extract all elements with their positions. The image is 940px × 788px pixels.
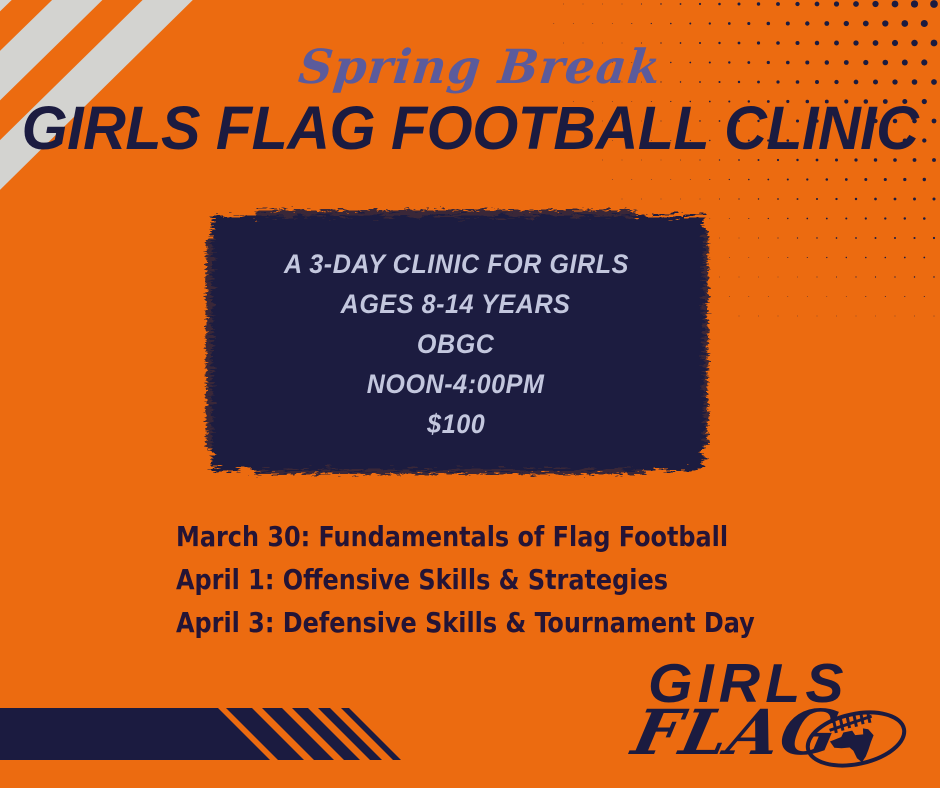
detail-line: A 3-DAY CLINIC FOR GIRLS [284,249,629,280]
detail-line: $100 [427,409,485,440]
detail-line: NOON-4:00PM [367,369,545,400]
poster-canvas: Spring Break GIRLS FLAG FOOTBALL CLINIC [0,0,940,788]
details-text-stack: A 3-DAY CLINIC FOR GIRLS AGES 8-14 YEARS… [196,196,716,488]
girls-flag-logo: GIRLS FLAG [630,654,902,776]
football-maryland-icon [804,706,908,772]
schedule-item: April 3: Defensive Skills & Tournament D… [176,601,841,644]
detail-line: OBGC [417,329,495,360]
page-title: GIRLS FLAG FOOTBALL CLINIC [14,97,926,159]
bottom-bar-decoration [0,670,420,788]
schedule-list: March 30: Fundamentals of Flag Football … [176,515,876,644]
headline-block: Spring Break GIRLS FLAG FOOTBALL CLINIC [0,44,940,159]
schedule-item: April 1: Offensive Skills & Strategies [176,558,841,601]
schedule-item: March 30: Fundamentals of Flag Football [176,515,841,558]
script-title: Spring Break [18,44,940,91]
detail-line: AGES 8-14 YEARS [341,289,571,320]
details-brush-box: A 3-DAY CLINIC FOR GIRLS AGES 8-14 YEARS… [196,196,716,488]
